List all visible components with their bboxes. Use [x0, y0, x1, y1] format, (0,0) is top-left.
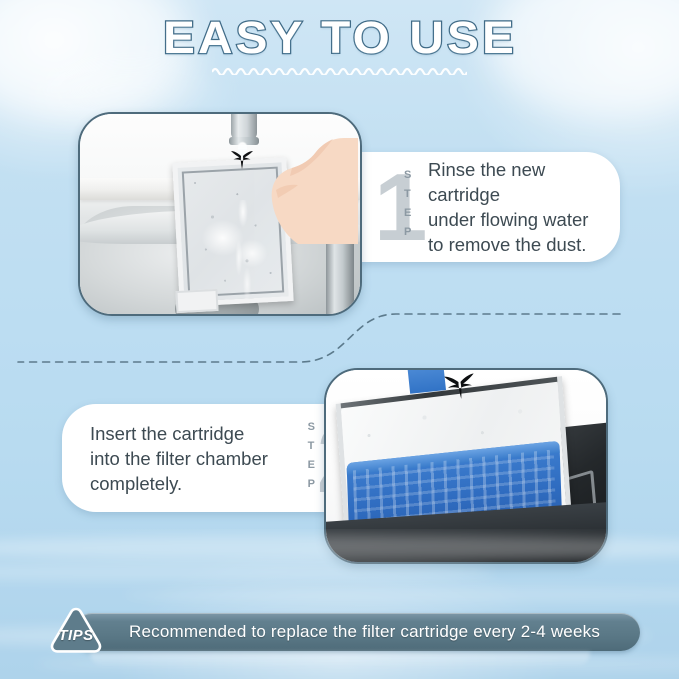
step-1-text: Rinse the new cartridge under flowing wa…: [428, 157, 620, 257]
step-2-photo-content: [326, 370, 606, 562]
basket-handle-tab: [406, 368, 446, 394]
page-title: EASY TO USE: [163, 14, 517, 61]
cartridge-bottom-tab: [175, 289, 218, 313]
page-title-block: EASY TO USE: [0, 14, 679, 75]
step-2-photo: [324, 368, 608, 564]
tips-badge-label: TIPS: [48, 605, 104, 659]
wave-line: [0, 563, 496, 581]
tips-text: Recommended to replace the filter cartri…: [129, 613, 622, 651]
tips-bar: Recommended to replace the filter cartri…: [73, 613, 640, 651]
step-1-photo: [78, 112, 362, 316]
hand-holding-cartridge: [240, 138, 358, 244]
faucet-spout: [231, 112, 257, 140]
title-wave-underline: [212, 65, 467, 75]
infographic-page: EASY TO USE 1 S T E P Rinse the new cart…: [0, 0, 679, 679]
step-2-text: Insert the cartridge into the filter cha…: [90, 421, 268, 496]
whale-tail-icon: [443, 372, 478, 401]
tips-bar-reflection: [90, 652, 590, 668]
wave-line: [122, 587, 679, 603]
step-1-photo-content: [80, 114, 360, 314]
